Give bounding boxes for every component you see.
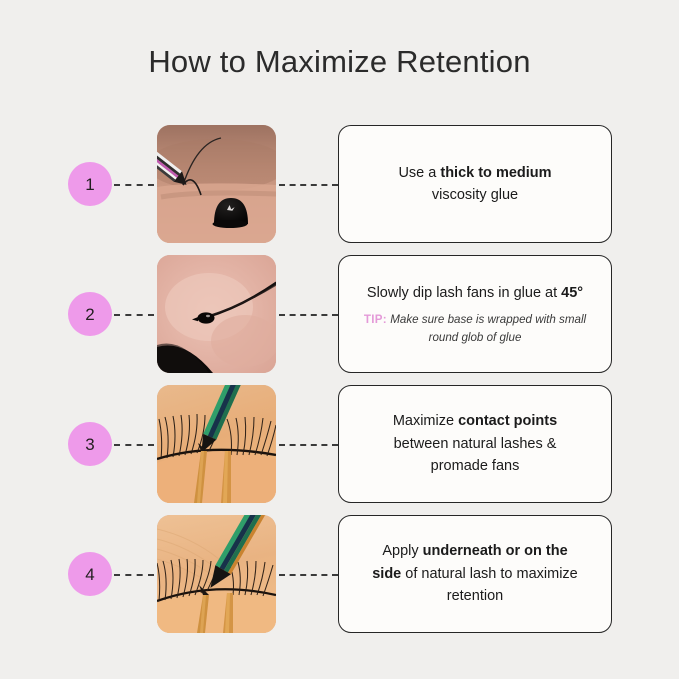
page-title: How to Maximize Retention — [0, 44, 679, 80]
steps-list: 1 — [0, 125, 679, 645]
step-number-badge-3: 3 — [68, 422, 112, 466]
step-row-1: 1 — [0, 125, 679, 255]
connector-dash-right-4 — [279, 574, 338, 576]
step-number-badge-2: 2 — [68, 292, 112, 336]
step-row-3: 3 — [0, 385, 679, 515]
step-text-2: Slowly dip lash fans in glue at 45° — [367, 282, 583, 304]
step-image-3 — [157, 385, 276, 503]
connector-dash-left-2 — [114, 314, 154, 316]
connector-dash-right-1 — [279, 184, 338, 186]
connector-dash-left-1 — [114, 184, 154, 186]
contact-points-lash-macro-photo — [157, 385, 276, 503]
step-card-2: Slowly dip lash fans in glue at 45° TIP:… — [338, 255, 612, 373]
step-row-2: 2 — [0, 255, 679, 385]
step-card-1: Use a thick to mediumviscosity glue — [338, 125, 612, 243]
connector-dash-right-2 — [279, 314, 338, 316]
step-text-1: Use a thick to mediumviscosity glue — [398, 162, 551, 207]
step-image-4 — [157, 515, 276, 633]
connector-dash-left-3 — [114, 444, 154, 446]
underneath-or-side-placement-photo — [157, 515, 276, 633]
tip-label: TIP: — [364, 313, 387, 326]
step-card-3: Maximize contact pointsbetween natural l… — [338, 385, 612, 503]
tweezers-lash-over-glue-drop-photo — [157, 125, 276, 243]
lash-fan-dipped-in-glue-photo — [157, 255, 276, 373]
step-image-2 — [157, 255, 276, 373]
connector-dash-right-3 — [279, 444, 338, 446]
step-row-4: 4 — [0, 515, 679, 645]
step-card-4: Apply underneath or on theside of natura… — [338, 515, 612, 633]
step-number-badge-4: 4 — [68, 552, 112, 596]
connector-dash-left-4 — [114, 574, 154, 576]
tip-text: Make sure base is wrapped with small rou… — [390, 313, 586, 343]
step-image-1 — [157, 125, 276, 243]
step-text-3: Maximize contact pointsbetween natural l… — [393, 410, 557, 477]
step-tip-2: TIP: Make sure base is wrapped with smal… — [353, 311, 597, 346]
step-number-badge-1: 1 — [68, 162, 112, 206]
step-text-4: Apply underneath or on theside of natura… — [372, 540, 578, 607]
